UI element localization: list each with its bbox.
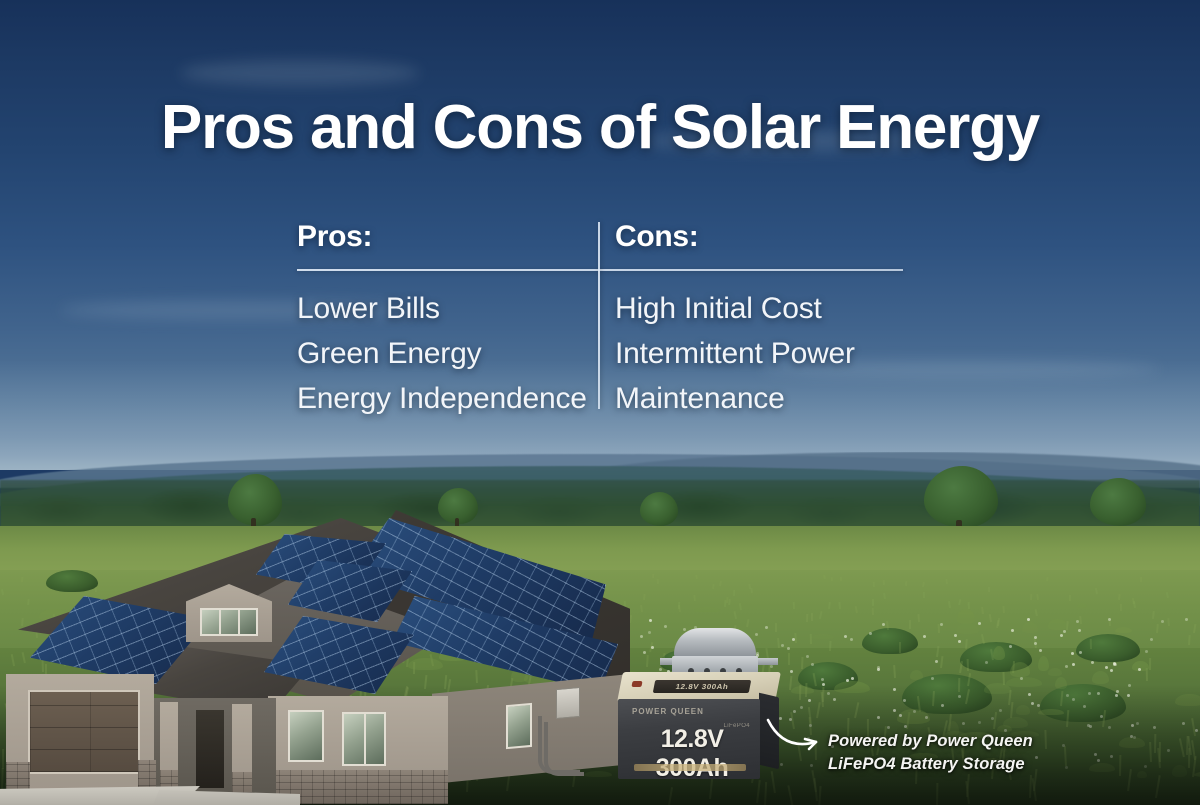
grass-tuft	[1038, 656, 1049, 671]
grass-tuft	[956, 624, 979, 635]
list-item: Green Energy	[297, 331, 587, 376]
wildflower	[1027, 618, 1030, 621]
list-item: Energy Independence	[297, 376, 587, 421]
grass-tuft	[910, 670, 923, 679]
grass-blade	[801, 657, 803, 669]
wildflower	[931, 677, 934, 680]
grass-blade	[917, 614, 920, 622]
grass-blade	[652, 574, 654, 578]
list-item: Maintenance	[615, 376, 855, 421]
grass-blade	[945, 579, 948, 584]
page-title: Pros and Cons of Solar Energy	[0, 92, 1200, 163]
grass-blade	[1069, 595, 1071, 601]
battery-terminal-positive	[631, 681, 642, 687]
grass-tuft	[993, 646, 1005, 660]
grass-blade	[873, 582, 875, 587]
battery-brand-text: POWER QUEEN	[632, 707, 704, 716]
wildflower	[792, 638, 795, 641]
grass-blade	[899, 642, 901, 653]
window-mullion	[364, 712, 366, 766]
grass-blade	[1002, 606, 1005, 613]
tree	[640, 492, 678, 526]
grass-tuft	[1077, 603, 1087, 608]
infographic-canvas: 12.8V 300Ah POWER QUEEN LiFePO4 12.8V 30…	[0, 0, 1200, 805]
tree	[924, 466, 998, 528]
column-divider-vertical	[598, 222, 600, 409]
grass-tuft	[1115, 627, 1132, 633]
grass-blade	[1030, 594, 1032, 600]
wildflower	[985, 661, 988, 664]
grass-blade	[1133, 601, 1136, 608]
meadow-bush	[1076, 634, 1140, 662]
wildflower	[1072, 663, 1075, 666]
wildflower	[1039, 649, 1042, 652]
grass-blade	[882, 580, 884, 585]
grass-blade	[1152, 611, 1155, 619]
grass-blade	[988, 587, 990, 592]
wildflower	[1011, 629, 1014, 632]
garage-door	[28, 690, 140, 774]
grass-blade	[838, 602, 841, 609]
list-item: Intermittent Power	[615, 331, 855, 376]
wildflower	[978, 622, 981, 625]
window-mullion	[238, 608, 240, 636]
wildflower	[1078, 629, 1081, 632]
wildflower	[649, 619, 652, 622]
wildflower	[787, 647, 790, 650]
wildflower	[1063, 630, 1066, 633]
grass-blade	[788, 653, 790, 665]
caption-line-2: LiFePO4 Battery Storage	[828, 753, 1188, 776]
grass-blade	[811, 613, 813, 621]
pros-heading: Pros:	[297, 218, 585, 256]
grass-blade	[1090, 639, 1092, 649]
wildflower	[877, 666, 880, 669]
battery-accent-strip	[634, 764, 746, 771]
window-mullion	[219, 608, 221, 636]
list-item: Lower Bills	[297, 286, 587, 331]
front-window	[288, 710, 324, 762]
wildflower	[1114, 663, 1117, 666]
tree	[1090, 478, 1146, 526]
pros-cons-table: Pros: Lower Bills Green Energy Energy In…	[297, 218, 903, 408]
grass-blade	[1149, 658, 1151, 670]
grass-blade	[657, 579, 659, 584]
solar-house	[0, 498, 640, 805]
grass-blade	[646, 655, 649, 667]
wildflower	[790, 670, 793, 673]
callout-arrow-icon	[766, 714, 828, 754]
wildflower	[821, 678, 824, 681]
wildflower	[1034, 642, 1037, 645]
grass-blade	[792, 602, 794, 609]
grass-blade	[829, 641, 831, 651]
wildflower	[1110, 669, 1113, 672]
wildflower	[1185, 618, 1188, 621]
grass-blade	[905, 581, 907, 586]
cons-list: High Initial Cost Intermittent Power Mai…	[615, 286, 855, 421]
front-door	[196, 710, 224, 788]
grass-blade	[830, 577, 832, 582]
grass-tuft	[1048, 668, 1063, 676]
cons-column: Cons: High Initial Cost Intermittent Pow…	[615, 218, 903, 256]
grass-blade	[750, 588, 753, 594]
wildflower	[1145, 650, 1148, 653]
battery-top-label-text: 12.8V 300Ah	[653, 681, 751, 693]
wildflower	[1150, 638, 1153, 641]
cloud-wisp	[180, 60, 420, 86]
electrical-panel-box	[556, 687, 580, 719]
side-window	[506, 703, 532, 749]
caption-line-1: Powered by Power Queen	[828, 730, 1188, 753]
battery-unit: 12.8V 300Ah POWER QUEEN LiFePO4 12.8V 30…	[616, 672, 781, 780]
grill-side-shelf	[758, 658, 778, 665]
battery-front-face: POWER QUEEN LiFePO4 12.8V 300Ah	[618, 699, 760, 779]
grass-blade	[839, 577, 841, 582]
pros-column: Pros: Lower Bills Green Energy Energy In…	[297, 218, 585, 256]
pros-list: Lower Bills Green Energy Energy Independ…	[297, 286, 587, 421]
grass-blade	[1094, 588, 1097, 594]
grill-lid	[674, 628, 756, 658]
grass-blade	[872, 599, 874, 606]
battery-caption: Powered by Power Queen LiFePO4 Battery S…	[828, 730, 1188, 776]
grass-tuft	[1022, 622, 1038, 633]
cons-heading: Cons:	[615, 218, 903, 256]
grass-tuft	[1048, 619, 1067, 630]
battery-top-label: 12.8V 300Ah	[653, 680, 752, 693]
dormer-window	[200, 608, 258, 636]
battery-spec-text: 12.8V 300Ah	[626, 725, 758, 783]
wildflower	[1161, 620, 1164, 623]
grass-tuft	[812, 634, 834, 640]
grass-blade	[693, 595, 696, 601]
list-item: High Initial Cost	[615, 286, 855, 331]
wildflower	[850, 638, 853, 641]
grass-blade	[733, 590, 735, 596]
conduit-pipe	[544, 722, 584, 776]
grass-tuft	[694, 607, 721, 613]
wildflower	[923, 635, 926, 638]
header-divider-horizontal	[297, 269, 903, 271]
wildflower	[781, 644, 784, 647]
wildflower	[1071, 652, 1074, 655]
grass-blade	[724, 600, 726, 607]
